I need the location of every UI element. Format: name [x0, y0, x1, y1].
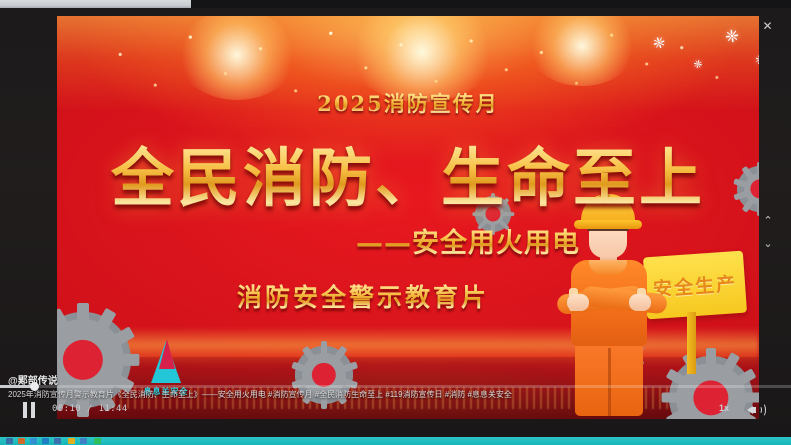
- chevron-down-icon[interactable]: ⌄: [760, 236, 776, 252]
- video-player[interactable]: ❈❈❈❈❈: [0, 8, 791, 437]
- poster-line-four: 消防安全警示教育片: [57, 278, 759, 314]
- poster-subtitle: 2025消防宣传月: [57, 88, 759, 118]
- taskbar-icon[interactable]: [94, 438, 101, 444]
- poster-background: ❈❈❈❈❈: [57, 16, 759, 419]
- taskbar-icon[interactable]: [18, 438, 25, 444]
- taskbar-icon[interactable]: [54, 438, 61, 444]
- poster-line-three: ——安全用火用电: [57, 221, 759, 260]
- close-icon[interactable]: ✕: [760, 19, 775, 34]
- volume-icon[interactable]: [747, 402, 767, 418]
- taskbar-icon[interactable]: [42, 438, 49, 444]
- taskbar[interactable]: [0, 437, 791, 445]
- controls-row: 00:10 / 11:44 1x: [0, 396, 791, 424]
- seek-bar[interactable]: [0, 385, 791, 388]
- chevron-up-icon[interactable]: ⌃: [760, 213, 776, 229]
- taskbar-icon[interactable]: [30, 438, 37, 444]
- player-controls[interactable]: 00:10 / 11:44 1x: [0, 384, 791, 429]
- screen-root: ❈❈❈❈❈: [0, 0, 791, 445]
- taskbar-icon[interactable]: [68, 438, 75, 444]
- pause-button[interactable]: [20, 401, 38, 419]
- seek-progress: [0, 385, 34, 388]
- taskbar-icon[interactable]: [6, 438, 13, 444]
- video-stage[interactable]: ❈❈❈❈❈: [57, 16, 759, 419]
- playback-speed-button[interactable]: 1x: [719, 403, 729, 413]
- seek-handle[interactable]: [30, 382, 39, 391]
- time-display: 00:10 / 11:44: [52, 404, 128, 414]
- poster-main-title: 全民消防、生命至上: [57, 128, 759, 219]
- taskbar-icon[interactable]: [80, 438, 87, 444]
